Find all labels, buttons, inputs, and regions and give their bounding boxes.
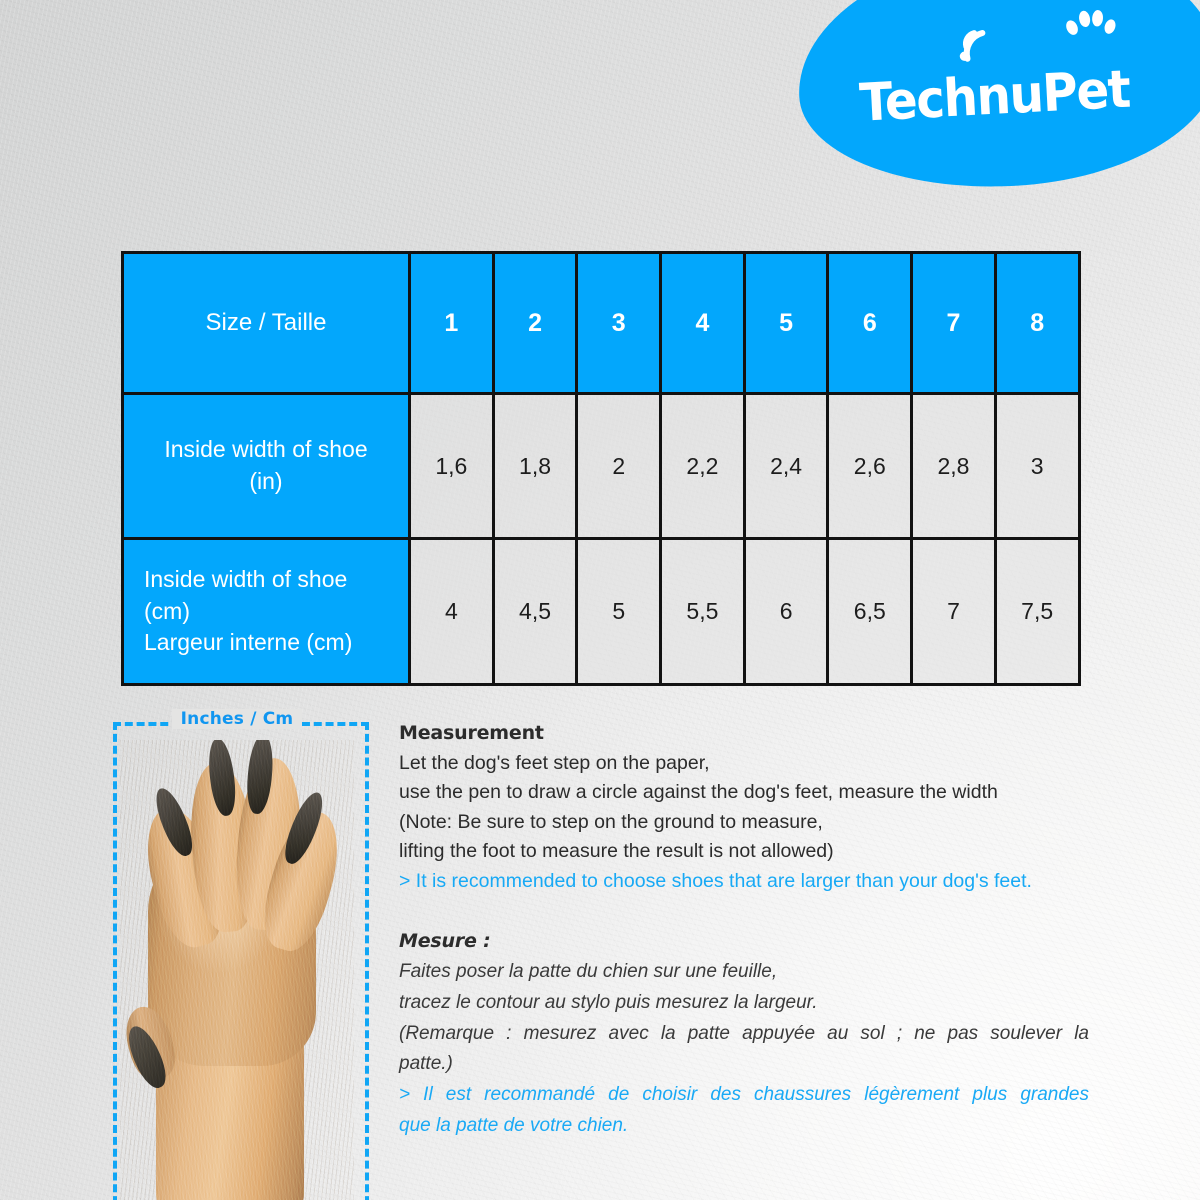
cm-cell-8: 7,5 <box>995 539 1079 685</box>
row-header-cm-line1: Inside width of shoe <box>144 564 394 596</box>
row-header-size: Size / Taille <box>123 253 410 394</box>
cm-cell-7: 7 <box>912 539 996 685</box>
row-header-cm-line3: Largeur interne (cm) <box>144 627 394 659</box>
measurement-fr-line-1: Faites poser la patte du chien sur une f… <box>399 957 1089 988</box>
inches-cell-1: 1,6 <box>410 394 494 539</box>
row-header-inches: Inside width of shoe (in) <box>123 394 410 539</box>
table-row-inches: Inside width of shoe (in) 1,6 1,8 2 2,2 … <box>123 394 1080 539</box>
size-cell-8: 8 <box>995 253 1079 394</box>
inches-cell-5: 2,4 <box>744 394 828 539</box>
inches-cell-2: 1,8 <box>493 394 577 539</box>
size-cell-4: 4 <box>661 253 745 394</box>
cm-cell-6: 6,5 <box>828 539 912 685</box>
wifi-signal-icon <box>954 20 1002 64</box>
size-chart-table: Size / Taille 1 2 3 4 5 6 7 8 Inside wid… <box>121 251 1081 686</box>
size-cell-1: 1 <box>410 253 494 394</box>
cm-cell-5: 6 <box>744 539 828 685</box>
cm-cell-3: 5 <box>577 539 661 685</box>
row-header-inches-line1: Inside width of shoe <box>138 434 394 466</box>
measurement-en-line-3: (Note: Be sure to step on the ground to … <box>399 808 1089 837</box>
measurement-en-highlight: > It is recommended to choose shoes that… <box>399 867 1089 896</box>
table-row-cm: Inside width of shoe (cm) Largeur intern… <box>123 539 1080 685</box>
brand-wordmark: TechnuPet <box>858 60 1131 134</box>
size-chart-page: TechnuPet Size / Taille 1 2 3 4 5 6 7 8 … <box>0 0 1200 1200</box>
cm-cell-1: 4 <box>410 539 494 685</box>
measurement-fr-line-3: (Remarque : mesurez avec la patte appuyé… <box>399 1019 1089 1050</box>
inches-cell-4: 2,2 <box>661 394 745 539</box>
inches-cell-8: 3 <box>995 394 1079 539</box>
size-cell-2: 2 <box>493 253 577 394</box>
measuring-frame-label: Inches / Cm <box>113 709 361 729</box>
measurement-en-title: Measurement <box>399 722 1089 744</box>
size-cell-7: 7 <box>912 253 996 394</box>
measuring-frame <box>113 722 369 1200</box>
measurement-fr-highlight-line-1: > Il est recommandé de choisir des chaus… <box>399 1080 1089 1111</box>
measurement-fr-highlight-line-2: que la patte de votre chien. <box>399 1111 1089 1142</box>
size-cell-3: 3 <box>577 253 661 394</box>
row-header-inches-line2: (in) <box>138 466 394 498</box>
measurement-en-block: Measurement Let the dog's feet step on t… <box>399 722 1089 896</box>
inches-cell-3: 2 <box>577 394 661 539</box>
size-cell-6: 6 <box>828 253 912 394</box>
cm-cell-4: 5,5 <box>661 539 745 685</box>
row-header-cm: Inside width of shoe (cm) Largeur intern… <box>123 539 410 685</box>
measurement-fr-block: Mesure : Faites poser la patte du chien … <box>399 930 1089 1142</box>
inches-cell-6: 2,6 <box>828 394 912 539</box>
measuring-frame-label-text: Inches / Cm <box>172 709 303 729</box>
table-row-size: Size / Taille 1 2 3 4 5 6 7 8 <box>123 253 1080 394</box>
row-header-cm-line2: (cm) <box>144 596 394 628</box>
measurement-fr-line-2: tracez le contour au stylo puis mesurez … <box>399 988 1089 1019</box>
instructions-column: Measurement Let the dog's feet step on t… <box>399 722 1089 1142</box>
measurement-fr-title: Mesure : <box>399 930 1089 952</box>
measurement-en-line-4: lifting the foot to measure the result i… <box>399 837 1089 866</box>
measurement-en-line-2: use the pen to draw a circle against the… <box>399 778 1089 807</box>
cm-cell-2: 4,5 <box>493 539 577 685</box>
inches-cell-7: 2,8 <box>912 394 996 539</box>
brand-logo: TechnuPet <box>792 0 1200 197</box>
size-cell-5: 5 <box>744 253 828 394</box>
measurement-en-line-1: Let the dog's feet step on the paper, <box>399 749 1089 778</box>
paw-print-icon <box>1063 6 1117 51</box>
measurement-fr-line-4: patte.) <box>399 1049 1089 1080</box>
